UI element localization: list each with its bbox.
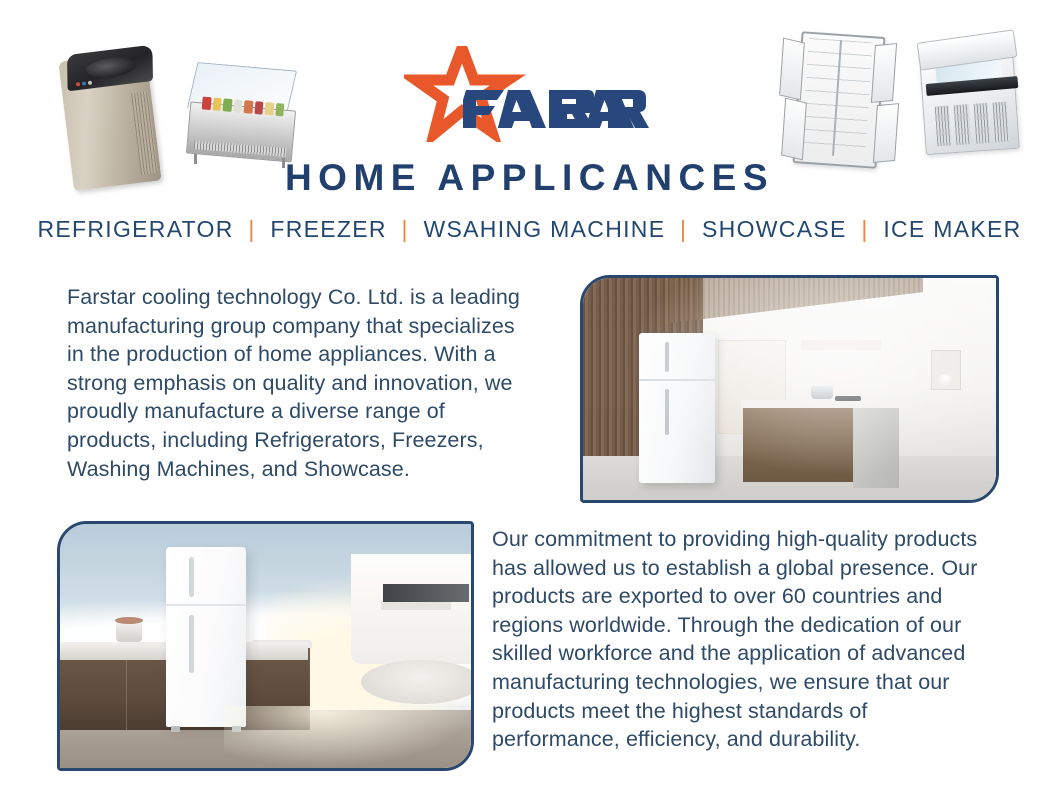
freezer-door-split (166, 604, 246, 606)
header: HOME APPLICANCES REFRIGERATOR | FREEZER … (0, 0, 1059, 258)
category-list: REFRIGERATOR | FREEZER | WSAHING MACHINE… (0, 216, 1059, 243)
refrigerator-in-kitchen (166, 547, 246, 727)
category-separator: | (248, 216, 255, 242)
photo-highlight-overlay (583, 278, 996, 500)
fridge-handle (189, 615, 194, 673)
refrigerator-door (779, 38, 805, 101)
category-separator: | (861, 216, 868, 242)
page-title: HOME APPLICANCES (0, 157, 1059, 199)
category-separator: | (402, 216, 409, 242)
kitchen-scene-bottom (60, 524, 471, 768)
commitment-paragraph: Our commitment to providing high-quality… (492, 525, 992, 754)
background-shelf (381, 602, 451, 610)
showcase-freezer-image (182, 56, 302, 166)
kitchen-photo-bottom (57, 521, 474, 771)
background-shelf-dark (383, 584, 469, 602)
category-washing-machine: WSAHING MACHINE (424, 216, 666, 242)
category-refrigerator: REFRIGERATOR (37, 216, 233, 242)
refrigerator-door (873, 103, 899, 163)
category-showcase: SHOWCASE (702, 216, 847, 242)
refrigerator-door (781, 98, 807, 161)
refrigerator-door (871, 43, 897, 103)
rice-cooker (116, 620, 142, 642)
category-freezer: FREEZER (270, 216, 386, 242)
intro-paragraph: Farstar cooling technology Co. Ltd. is a… (67, 283, 529, 483)
freezer-handle (189, 557, 194, 597)
floor-light-reflection (224, 706, 471, 768)
kitchen-scene-top (583, 278, 996, 500)
ice-maker-image (908, 32, 1036, 162)
four-door-refrigerator-image (779, 28, 897, 168)
farstar-logo (404, 46, 654, 142)
ice-maker-grille (935, 102, 1010, 147)
category-separator: | (680, 216, 687, 242)
round-table (361, 660, 474, 704)
category-ice-maker: ICE MAKER (883, 216, 1021, 242)
kitchen-photo-top (580, 275, 999, 503)
fridge-foot (171, 726, 180, 732)
